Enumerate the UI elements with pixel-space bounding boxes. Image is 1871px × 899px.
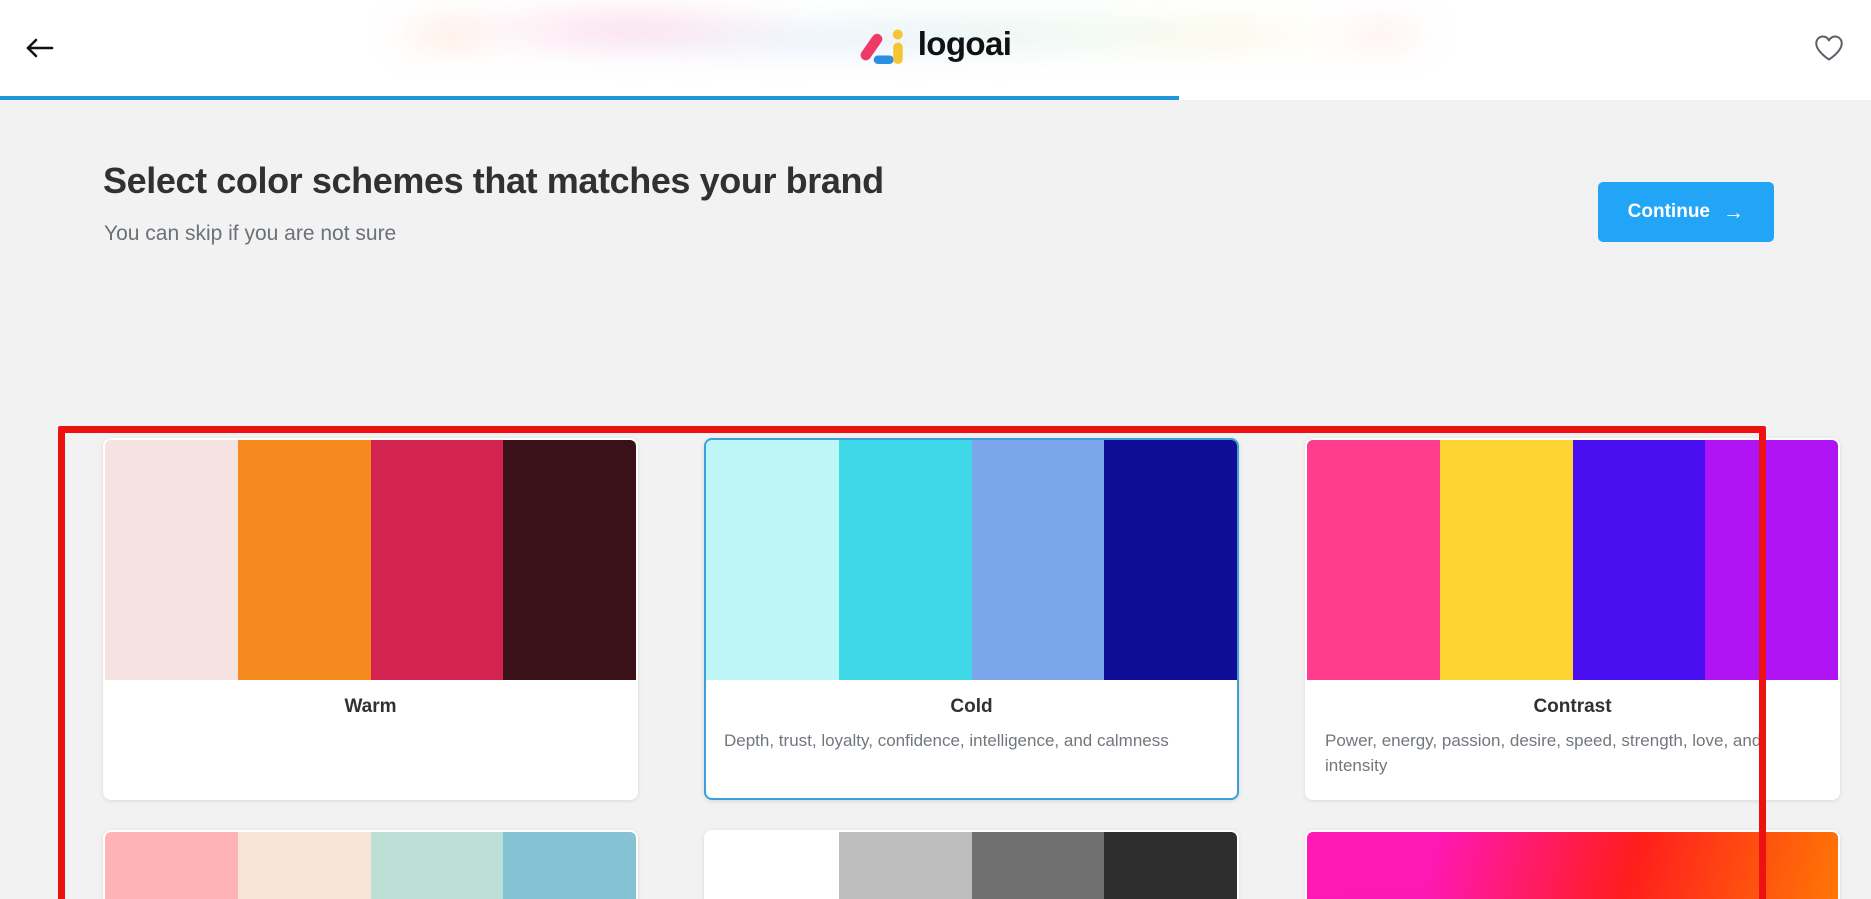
arrow-left-icon [25, 36, 55, 60]
continue-button-label: Continue [1628, 201, 1710, 223]
color-scheme-card-warm[interactable]: Warm [103, 438, 638, 800]
swatch-pastel-1 [105, 832, 238, 899]
swatch-pastel-2 [238, 832, 371, 899]
swatch-cold-4 [1104, 440, 1237, 680]
card-description: Power, energy, passion, desire, speed, s… [1325, 729, 1820, 778]
swatch-pastel-4 [503, 832, 636, 899]
color-scheme-grid: WarmColdDepth, trust, loyalty, confidenc… [103, 438, 1770, 899]
color-scheme-card-gradient[interactable]: ПАРТНЕРКИН [1305, 830, 1840, 899]
swatch-cold-2 [839, 440, 972, 680]
swatch-contrast-4 [1705, 440, 1838, 680]
swatch-contrast-1 [1307, 440, 1440, 680]
logoai-triangle-icon [860, 22, 910, 66]
swatch-warm-1 [105, 440, 238, 680]
card-title: Contrast [1325, 696, 1820, 718]
swatch-warm-3 [371, 440, 504, 680]
swatch-strip: ПАРТНЕРКИН [1307, 832, 1838, 899]
page-subtitle: You can skip if you are not sure [104, 222, 396, 246]
heart-outline-icon [1814, 34, 1844, 62]
main-content: Select color schemes that matches your b… [0, 100, 1871, 899]
swatch-strip [105, 832, 636, 899]
back-button[interactable] [18, 28, 62, 68]
brand-logo[interactable]: logoai [860, 22, 1012, 66]
card-body: ColdDepth, trust, loyalty, confidence, i… [706, 680, 1237, 774]
swatch-cold-3 [972, 440, 1105, 680]
swatch-strip [105, 440, 636, 680]
swatch-cold-1 [706, 440, 839, 680]
swatch-grayscale-3 [972, 832, 1105, 899]
color-scheme-card-contrast[interactable]: ContrastPower, energy, passion, desire, … [1305, 438, 1840, 800]
swatch-warm-4 [503, 440, 636, 680]
page-title: Select color schemes that matches your b… [103, 160, 884, 202]
color-scheme-card-cold[interactable]: ColdDepth, trust, loyalty, confidence, i… [704, 438, 1239, 800]
card-body: Warm [105, 680, 636, 740]
brand-name: logoai [918, 27, 1012, 62]
swatch-grayscale-1 [706, 832, 839, 899]
arrow-right-icon: → [1723, 202, 1744, 223]
swatch-strip [706, 832, 1237, 899]
page-header: Select color schemes that matches your b… [0, 100, 1871, 286]
swatch-grayscale-2 [839, 832, 972, 899]
card-description: Depth, trust, loyalty, confidence, intel… [724, 729, 1219, 754]
swatch-strip [1307, 440, 1838, 680]
swatch-strip [706, 440, 1237, 680]
card-title: Warm [123, 696, 618, 718]
app-header: logoai [0, 0, 1871, 96]
card-body: ContrastPower, energy, passion, desire, … [1307, 680, 1838, 798]
color-scheme-card-pastel[interactable] [103, 830, 638, 899]
swatch-warm-2 [238, 440, 371, 680]
swatch-contrast-2 [1440, 440, 1573, 680]
swatch-contrast-3 [1573, 440, 1706, 680]
color-scheme-card-grayscale[interactable] [704, 830, 1239, 899]
favorite-button[interactable] [1807, 26, 1851, 70]
continue-button[interactable]: Continue → [1598, 182, 1774, 242]
swatch-pastel-3 [371, 832, 504, 899]
swatch-grayscale-4 [1104, 832, 1237, 899]
card-title: Cold [724, 696, 1219, 718]
